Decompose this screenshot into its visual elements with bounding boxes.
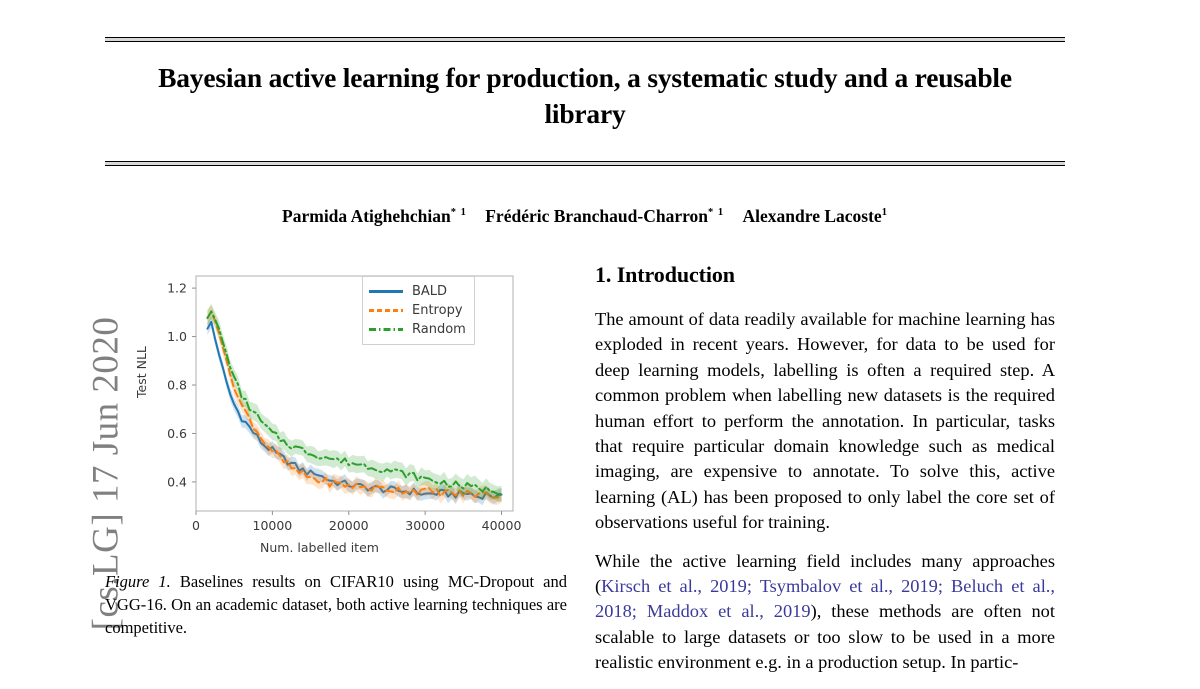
figure-caption-text: Baselines results on CIFAR10 using MC-Dr… [105,572,567,637]
legend-label-random: Random [412,322,466,337]
author-affiliation-marks: * 1 [451,207,467,218]
author-list: Parmida Atighehchian* 1 Frédéric Brancha… [105,206,1065,227]
author-name: Alexandre Lacoste [743,206,882,226]
author-entry: Frédéric Branchaud-Charron* 1 [485,206,724,226]
legend-item-random: Random [369,320,466,339]
author-name: Frédéric Branchaud-Charron [485,206,708,226]
legend-label-entropy: Entropy [412,303,463,318]
svg-text:10000: 10000 [253,518,293,533]
chart-legend: BALD Entropy Random [362,276,475,345]
legend-swatch-entropy [369,309,403,312]
svg-text:1.2: 1.2 [167,281,187,296]
right-column: 1. Introduction The amount of data readi… [595,262,1055,689]
test-nll-line-chart: 0100002000030000400000.40.60.81.01.2 [140,268,536,558]
legend-item-bald: BALD [369,282,466,301]
legend-swatch-random [369,328,403,331]
svg-text:40000: 40000 [482,518,522,533]
intro-paragraph-2: While the active learning field includes… [595,549,1055,676]
chart-y-axis-label: Test NLL [134,346,149,398]
legend-label-bald: BALD [412,284,447,299]
legend-swatch-bald [369,290,403,293]
author-entry: Parmida Atighehchian* 1 [282,206,467,226]
page-title: Bayesian active learning for production,… [135,60,1035,132]
author-name: Parmida Atighehchian [282,206,451,226]
author-entry: Alexandre Lacoste1 [743,206,888,226]
author-affiliation-marks: 1 [882,207,888,218]
svg-text:30000: 30000 [405,518,445,533]
figure-1: 0100002000030000400000.40.60.81.01.2 Tes… [140,268,536,558]
header-rule-bottom [105,161,1065,166]
header-rule-top [105,37,1065,42]
chart-x-axis-label: Num. labelled item [260,540,379,555]
legend-item-entropy: Entropy [369,301,466,320]
author-affiliation-marks: * 1 [708,207,724,218]
paper-page: Bayesian active learning for production,… [105,0,1065,648]
svg-text:0.4: 0.4 [167,474,187,489]
figure-number: Figure 1. [105,572,171,591]
svg-text:20000: 20000 [329,518,369,533]
svg-text:0: 0 [192,518,200,533]
svg-text:0.8: 0.8 [167,378,187,393]
figure-caption: Figure 1. Baselines results on CIFAR10 u… [105,570,567,639]
intro-paragraph-1: The amount of data readily available for… [595,307,1055,536]
svg-text:0.6: 0.6 [167,426,187,441]
section-heading-introduction: 1. Introduction [595,262,1055,288]
svg-text:1.0: 1.0 [167,329,187,344]
